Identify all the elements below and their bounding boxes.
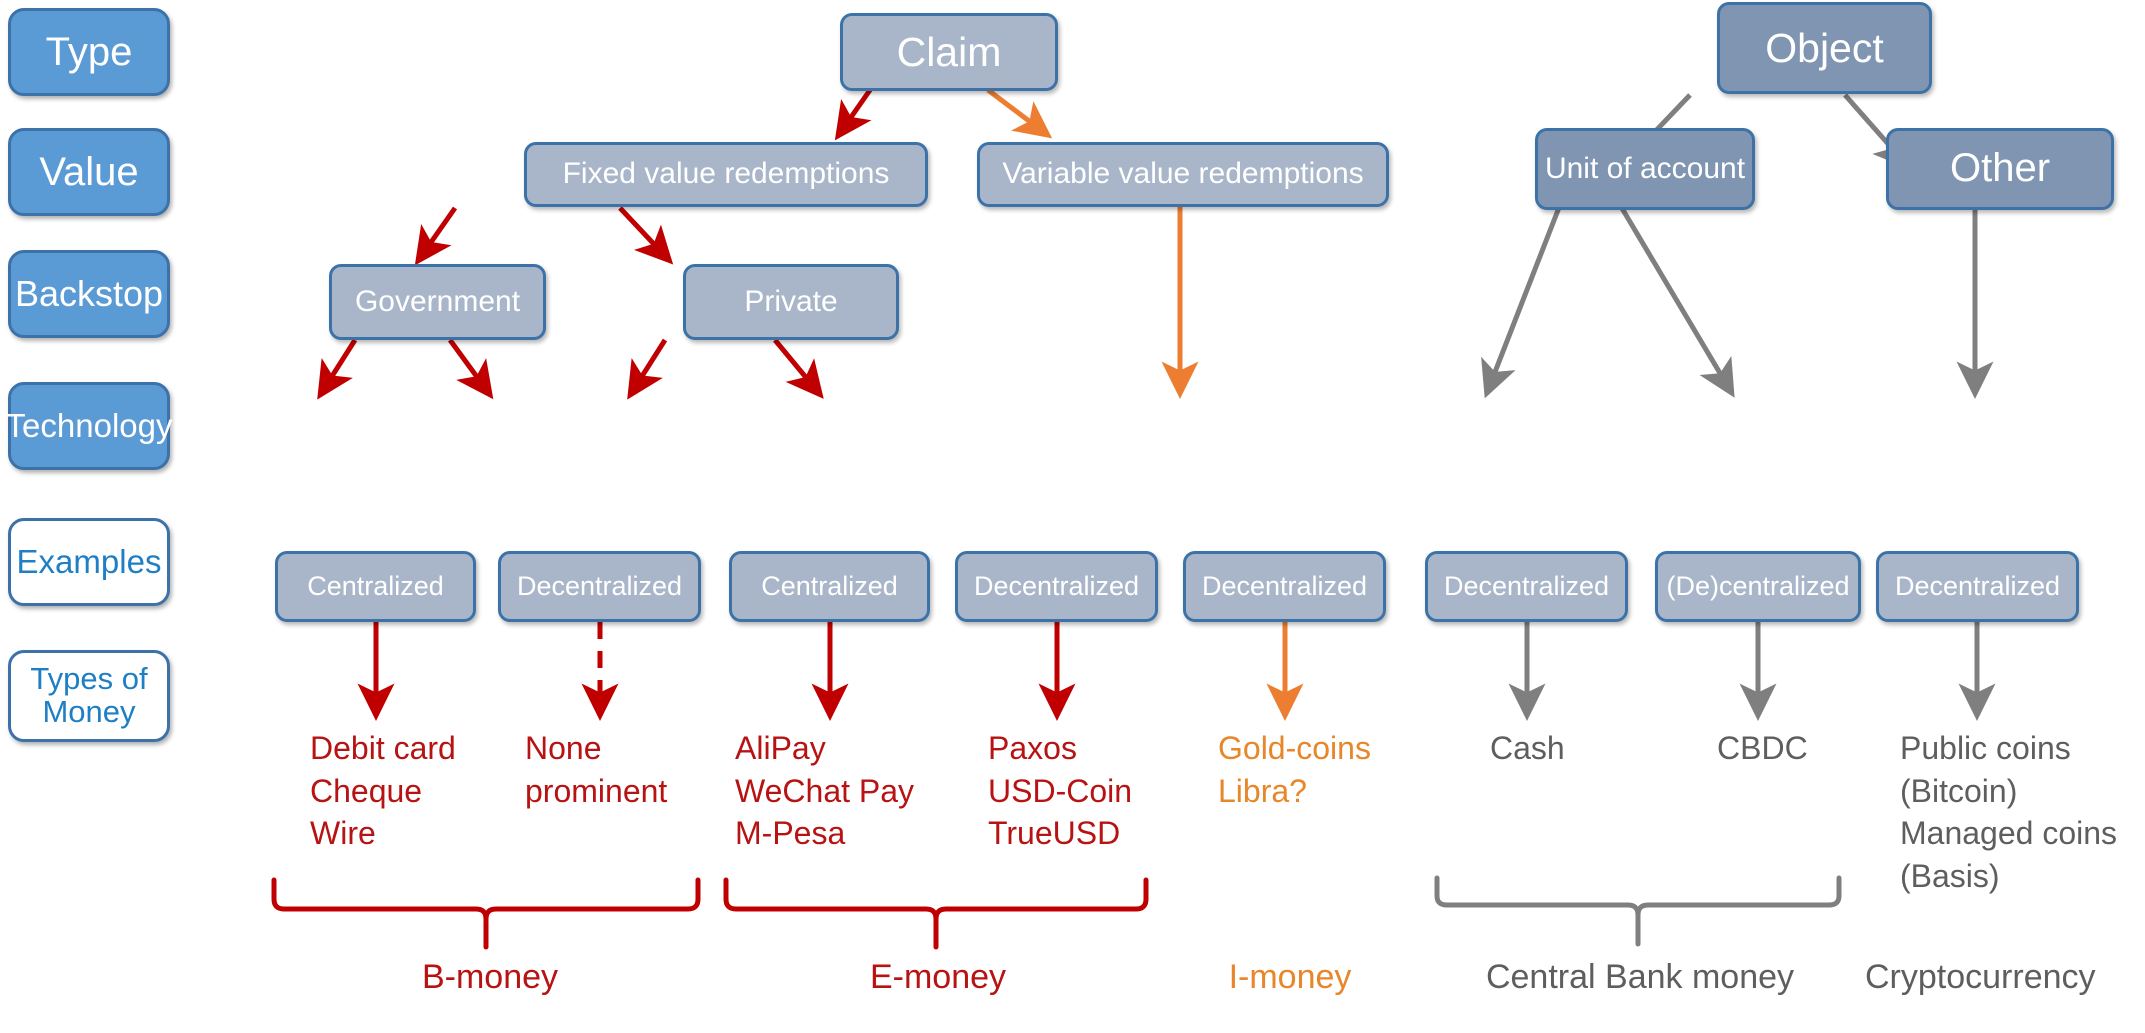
edge-unit-to-decentralized2 <box>1620 205 1730 390</box>
node-variable-value-redemptions[interactable]: Variable value redemptions <box>977 142 1389 207</box>
example-cash: Cash <box>1490 727 1650 770</box>
edge-claim-to-variable <box>988 90 1045 133</box>
node-government[interactable]: Government <box>329 264 546 340</box>
node-other[interactable]: Other <box>1886 128 2114 210</box>
node-technology-decentralized-gov[interactable]: Decentralized <box>498 551 701 622</box>
money-type-cryptocurrency: Cryptocurrency <box>1865 955 2145 1000</box>
node-unit-of-account[interactable]: Unit of account <box>1535 128 1755 210</box>
edge-claim-to-fixed <box>840 90 870 133</box>
node-technology-decentralized-other[interactable]: Decentralized <box>1876 551 2079 622</box>
node-private[interactable]: Private <box>683 264 899 340</box>
edge-government-to-centralized <box>322 340 355 392</box>
money-type-e-money: E-money <box>848 955 1028 1000</box>
node-technology-centralized-gov[interactable]: Centralized <box>275 551 476 622</box>
example-cryptocurrency: Public coins (Bitcoin) Managed coins (Ba… <box>1900 727 2145 897</box>
edge-government-to-decentralized <box>450 340 488 392</box>
node-technology-centralized-priv[interactable]: Centralized <box>729 551 930 622</box>
rail-item-backstop[interactable]: Backstop <box>8 250 170 338</box>
example-b-money-decentralized: None prominent <box>525 727 725 812</box>
edge-fixed-to-private <box>620 208 667 258</box>
rail-item-types-of-money[interactable]: Types of Money <box>8 650 170 742</box>
brace-e-money <box>726 880 1146 919</box>
node-technology-decentralized-unit[interactable]: Decentralized <box>1425 551 1628 622</box>
rail-item-examples[interactable]: Examples <box>8 518 170 606</box>
node-object[interactable]: Object <box>1717 2 1932 94</box>
rail-item-technology[interactable]: Technology <box>8 382 170 470</box>
rail-item-type[interactable]: Type <box>8 8 170 96</box>
edge-private-to-centralized <box>632 340 665 392</box>
brace-central-bank-money <box>1437 878 1839 915</box>
edge-fixed-to-government <box>420 208 455 258</box>
node-claim[interactable]: Claim <box>840 13 1058 91</box>
diagram-canvas: Type Value Backstop Technology Examples … <box>0 0 2145 1033</box>
node-fixed-value-redemptions[interactable]: Fixed value redemptions <box>524 142 928 207</box>
money-type-i-money: I-money <box>1200 955 1380 1000</box>
example-i-money: Gold-coins Libra? <box>1218 727 1438 812</box>
example-cbdc: CBDC <box>1717 727 1887 770</box>
example-e-money-centralized: AliPay WeChat Pay M-Pesa <box>735 727 965 855</box>
edge-unit-to-decentralized <box>1488 205 1560 390</box>
edge-private-to-decentralized <box>775 340 818 392</box>
node-technology-de-centralized-unit[interactable]: (De)centralized <box>1655 551 1861 622</box>
brace-b-money <box>274 880 698 919</box>
node-technology-decentralized-priv[interactable]: Decentralized <box>955 551 1158 622</box>
node-technology-decentralized-variable[interactable]: Decentralized <box>1183 551 1386 622</box>
money-type-b-money: B-money <box>400 955 580 1000</box>
money-type-central-bank-money: Central Bank money <box>1470 955 1810 1000</box>
rail-item-value[interactable]: Value <box>8 128 170 216</box>
example-b-money-centralized: Debit card Cheque Wire <box>310 727 520 855</box>
example-e-money-decentralized: Paxos USD-Coin TrueUSD <box>988 727 1203 855</box>
